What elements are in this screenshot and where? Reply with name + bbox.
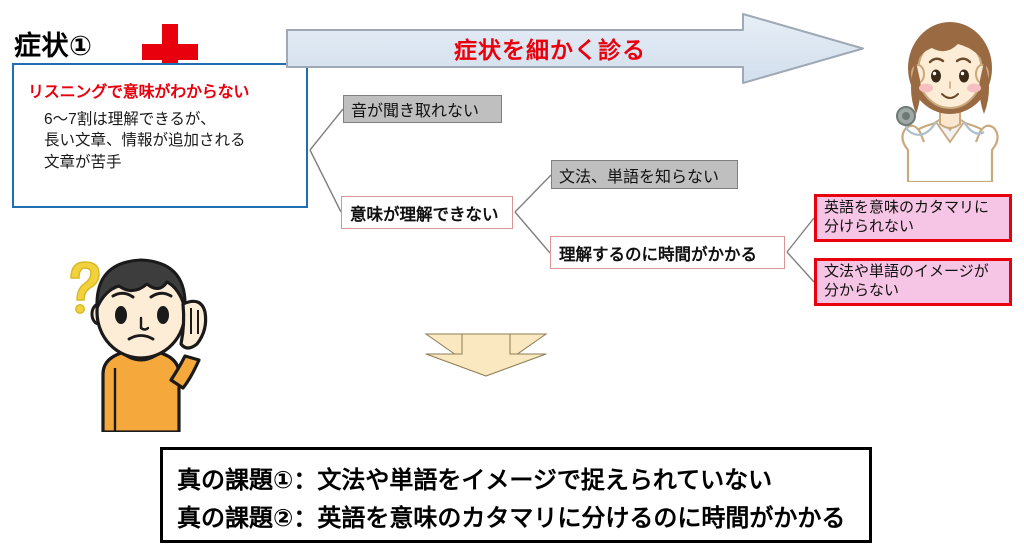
- symptom-box-title: リスニングで意味がわからない: [28, 78, 249, 102]
- banner-label: 症状を細かく診る: [285, 31, 815, 65]
- node-grammar-vocabulary-unknown: 文法、単語を知らない: [551, 160, 738, 189]
- node-sound-not-audible: 音が聞き取れない: [343, 95, 502, 123]
- conclusion-box: 真の課題①：文法や単語をイメージで捉えられていない 真の課題②：英語を意味のカタ…: [160, 447, 872, 543]
- node-no-image-of-grammar-vocabulary: 文法や単語のイメージが 分からない: [814, 258, 1012, 306]
- conclusion-line-1: 真の課題①：文法や単語をイメージで捉えられていない: [177, 460, 772, 495]
- symptom-detail-box: リスニングで意味がわからない 6〜7割は理解できるが、 長い文章、情報が追加され…: [12, 63, 308, 208]
- page-title: 症状①: [14, 24, 92, 63]
- female-doctor-with-stethoscope-illustration: [884, 10, 1016, 182]
- node-takes-time-to-understand: 理解するのに時間がかかる: [550, 236, 785, 269]
- conclusion-line-2: 真の課題②：英語を意味のカタマリに分けるのに時間がかかる: [177, 498, 845, 533]
- node-cannot-chunk-english: 英語を意味のカタマリに 分けられない: [814, 194, 1012, 242]
- boy-cupping-ear-with-question-mark-illustration: [55, 252, 241, 432]
- node-cannot-understand-meaning: 意味が理解できない: [341, 196, 513, 229]
- diagram-canvas: 症状① リスニングで意味がわからない 6〜7割は理解できるが、 長い文章、情報が…: [0, 0, 1024, 554]
- down-arrow-icon: [424, 332, 548, 378]
- symptom-box-body: 6〜7割は理解できるが、 長い文章、情報が追加される 文章が苦手: [44, 109, 246, 173]
